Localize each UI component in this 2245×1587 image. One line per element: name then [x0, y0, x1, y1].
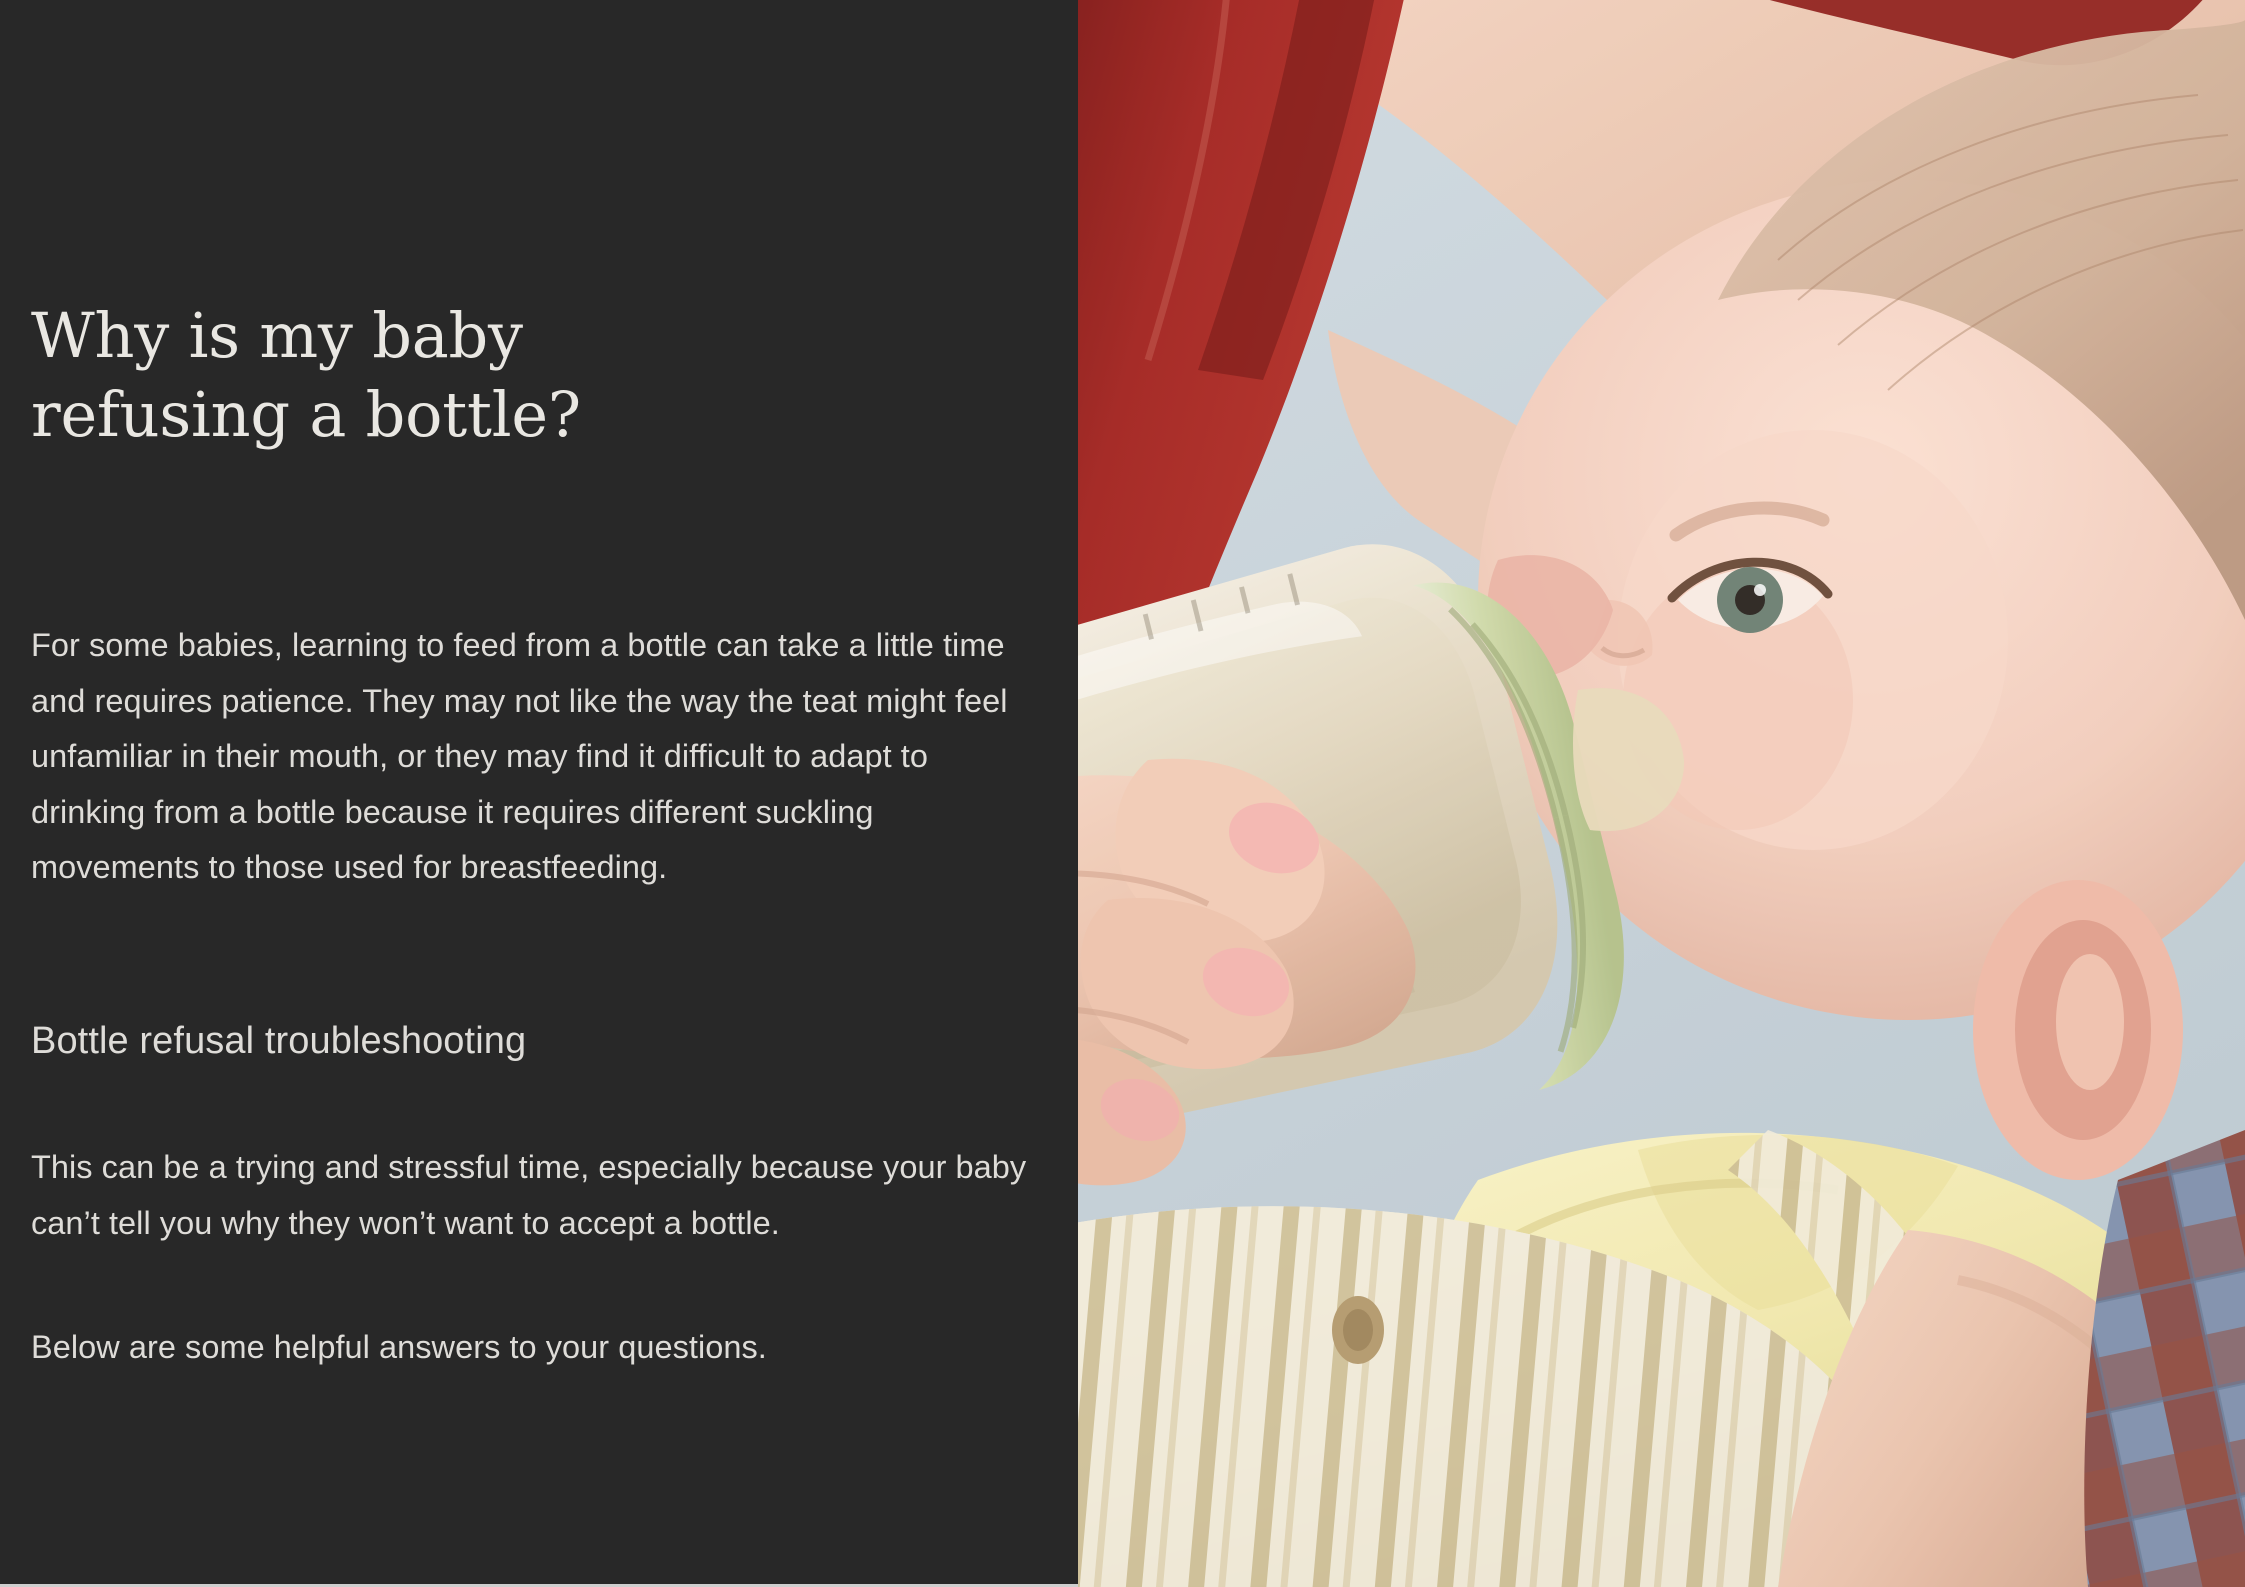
photo-illustration: [1078, 0, 2245, 1587]
intro-paragraph: For some babies, learning to feed from a…: [31, 618, 1031, 896]
text-content-wrapper: Why is my baby refusing a bottle? For so…: [31, 0, 1041, 1587]
page-title: Why is my baby refusing a bottle?: [31, 296, 1031, 455]
section-subheading: Bottle refusal troubleshooting: [31, 1018, 1031, 1066]
closing-paragraph: Below are some helpful answers to your q…: [31, 1320, 1031, 1376]
page-root: Why is my baby refusing a bottle? For so…: [0, 0, 2245, 1587]
text-panel: Why is my baby refusing a bottle? For so…: [0, 0, 1078, 1587]
troubleshooting-paragraph: This can be a trying and stressful time,…: [31, 1140, 1031, 1251]
photo-light-overlay: [1078, 0, 2245, 1587]
bottle-feeding-photo: [1078, 0, 2245, 1587]
